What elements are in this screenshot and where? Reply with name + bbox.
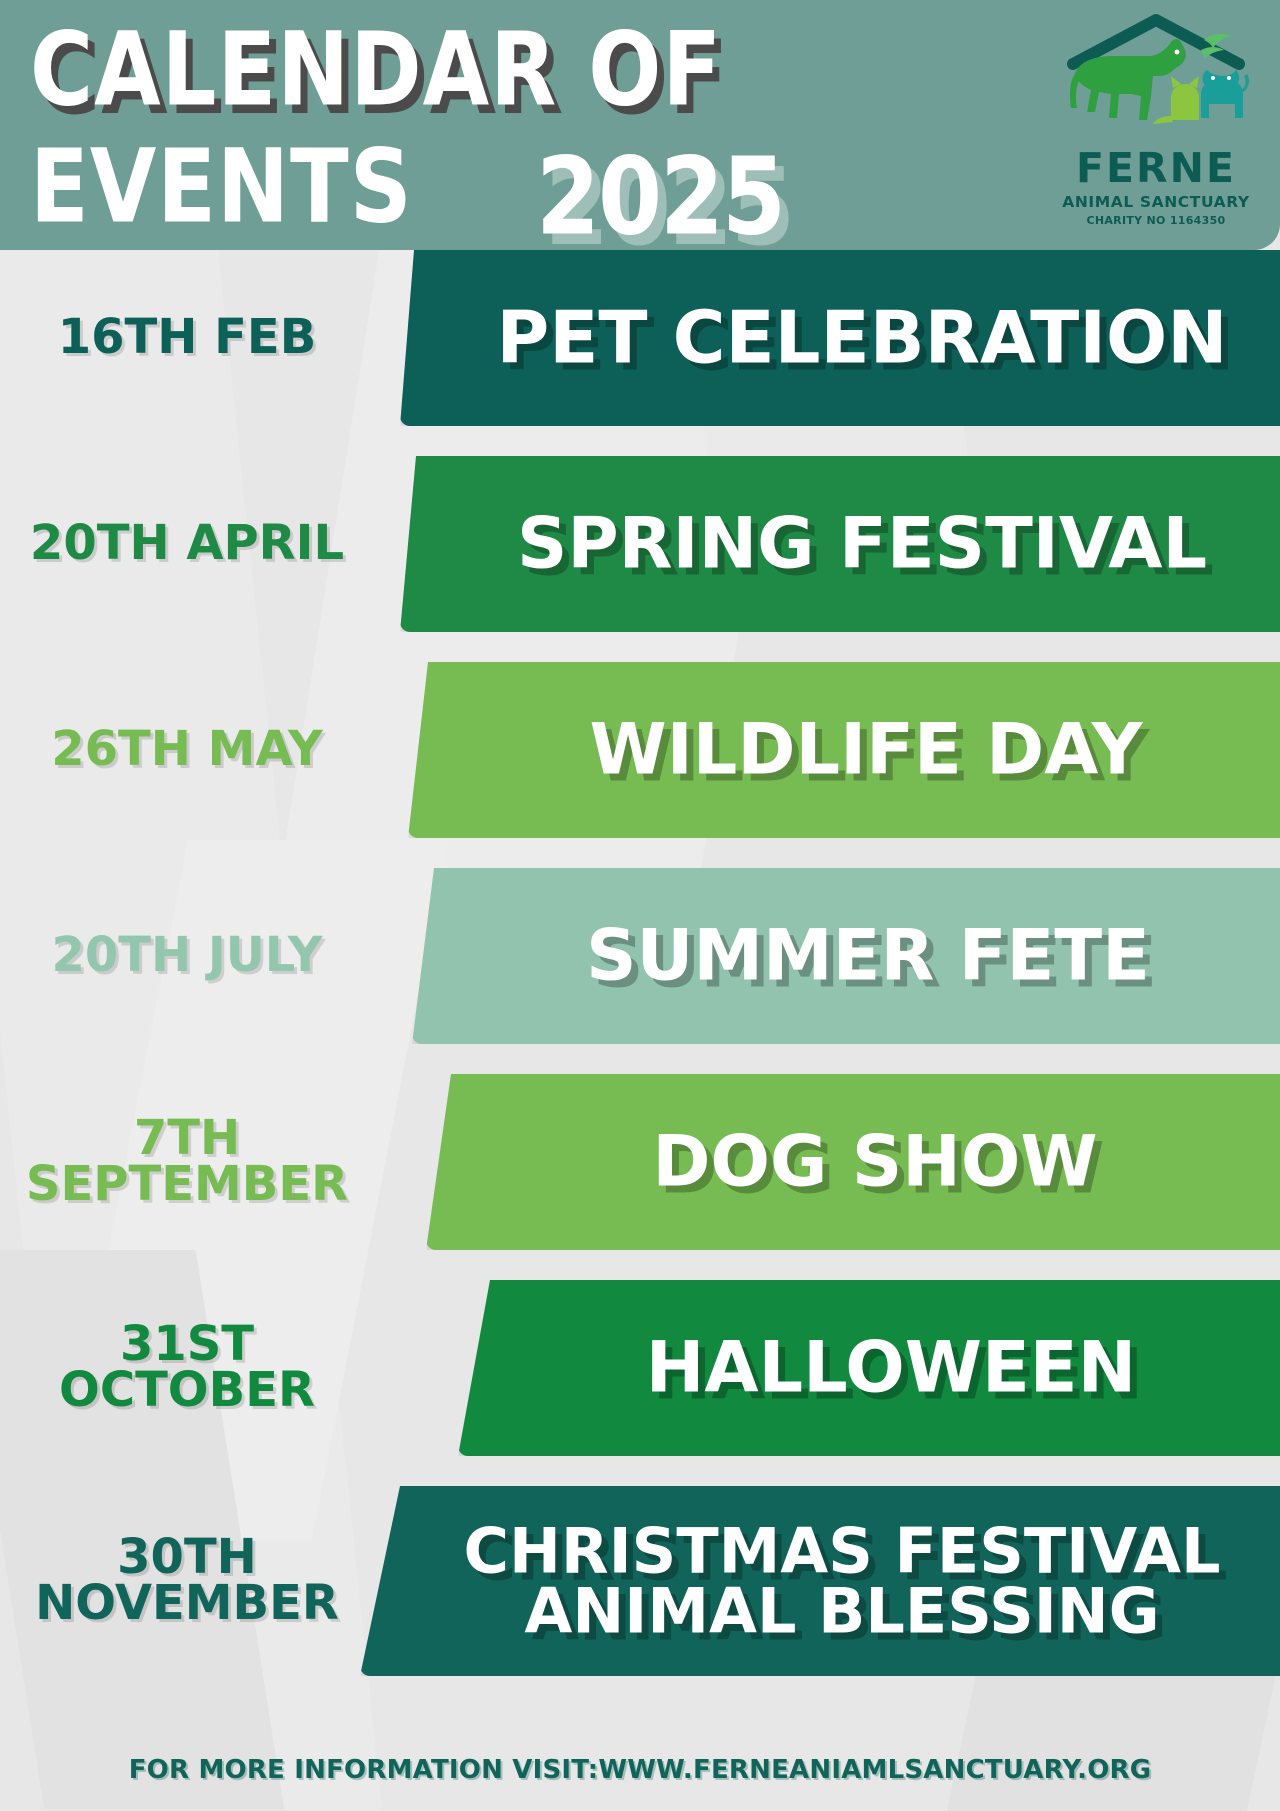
event-date-line: 26TH MAY [0,727,374,773]
event-row[interactable]: WILDLIFE DAY26TH MAY [0,662,1280,838]
event-banner: CHRISTMAS FESTIVALANIMAL BLESSING [360,1486,1280,1676]
event-row[interactable]: SUMMER FETE20TH JULY [0,868,1280,1044]
event-banner: DOG SHOW [426,1074,1280,1250]
event-banner: WILDLIFE DAY [408,662,1280,838]
event-date-line: 20TH APRIL [0,521,374,567]
event-row[interactable]: DOG SHOW7THSEPTEMBER [0,1074,1280,1250]
event-list: PET CELEBRATION16TH FEBSPRING FESTIVAL20… [0,250,1280,1706]
title-line2-wrap: 2025 EVENTS [30,139,930,249]
page-title-line2: EVENTS [30,139,413,236]
logo-subtitle: ANIMAL SANCTUARY [1062,193,1250,211]
logo-animals-icon [1061,12,1251,152]
poster-header: CALENDAR OF 2025 EVENTS [0,0,1280,250]
event-date-line: NOVEMBER [0,1581,374,1627]
event-title: HALLOWEEN [458,1334,1280,1401]
footer-info: FOR MORE INFORMATION VISIT:WWW.FERNEANIA… [0,1755,1280,1785]
event-title-line: SPRING FESTIVAL [466,510,1258,577]
event-date-line: 16TH FEB [0,315,374,361]
event-row[interactable]: PET CELEBRATION16TH FEB [0,250,1280,426]
event-title-line: HALLOWEEN [524,1334,1258,1401]
event-date: 20TH JULY [0,933,420,979]
page-title-line1: CALENDAR OF [30,22,930,119]
event-date-line: OCTOBER [0,1368,374,1414]
event-row[interactable]: SPRING FESTIVAL20TH APRIL [0,456,1280,632]
event-title-line: CHRISTMAS FESTIVAL [426,1521,1258,1581]
event-date-line: SEPTEMBER [0,1162,374,1208]
event-banner: PET CELEBRATION [400,250,1280,426]
event-title: CHRISTMAS FESTIVALANIMAL BLESSING [360,1521,1280,1640]
event-row[interactable]: CHRISTMAS FESTIVALANIMAL BLESSING30THNOV… [0,1486,1280,1676]
event-title: DOG SHOW [426,1128,1280,1195]
event-title-line: DOG SHOW [492,1128,1258,1195]
event-banner: HALLOWEEN [458,1280,1280,1456]
event-date: 16TH FEB [0,315,420,361]
logo-name: FERNE [1076,148,1236,189]
event-title-line: WILDLIFE DAY [474,716,1258,783]
event-banner: SPRING FESTIVAL [400,456,1280,632]
event-date: 20TH APRIL [0,521,420,567]
event-title: PET CELEBRATION [400,303,1280,372]
event-title-line: ANIMAL BLESSING [426,1581,1258,1641]
ferne-logo: FERNE ANIMAL SANCTUARY CHARITY NO 116435… [1056,12,1256,240]
title-block: CALENDAR OF 2025 EVENTS [30,22,930,249]
event-title: SUMMER FETE [412,922,1280,989]
event-title-line: PET CELEBRATION [466,303,1258,372]
logo-charity-number: CHARITY NO 1164350 [1086,214,1225,227]
poster-canvas: CALENDAR OF 2025 EVENTS [0,0,1280,1811]
year-label: 2025 [536,135,784,259]
event-row[interactable]: HALLOWEEN31STOCTOBER [0,1280,1280,1456]
event-title: WILDLIFE DAY [408,716,1280,783]
event-title: SPRING FESTIVAL [400,510,1280,577]
event-date-line: 20TH JULY [0,933,374,979]
event-date: 7THSEPTEMBER [0,1116,420,1207]
event-date: 30THNOVEMBER [0,1535,420,1626]
event-date: 26TH MAY [0,727,420,773]
event-banner: SUMMER FETE [412,868,1280,1044]
event-date: 31STOCTOBER [0,1322,420,1413]
event-title-line: SUMMER FETE [478,922,1258,989]
